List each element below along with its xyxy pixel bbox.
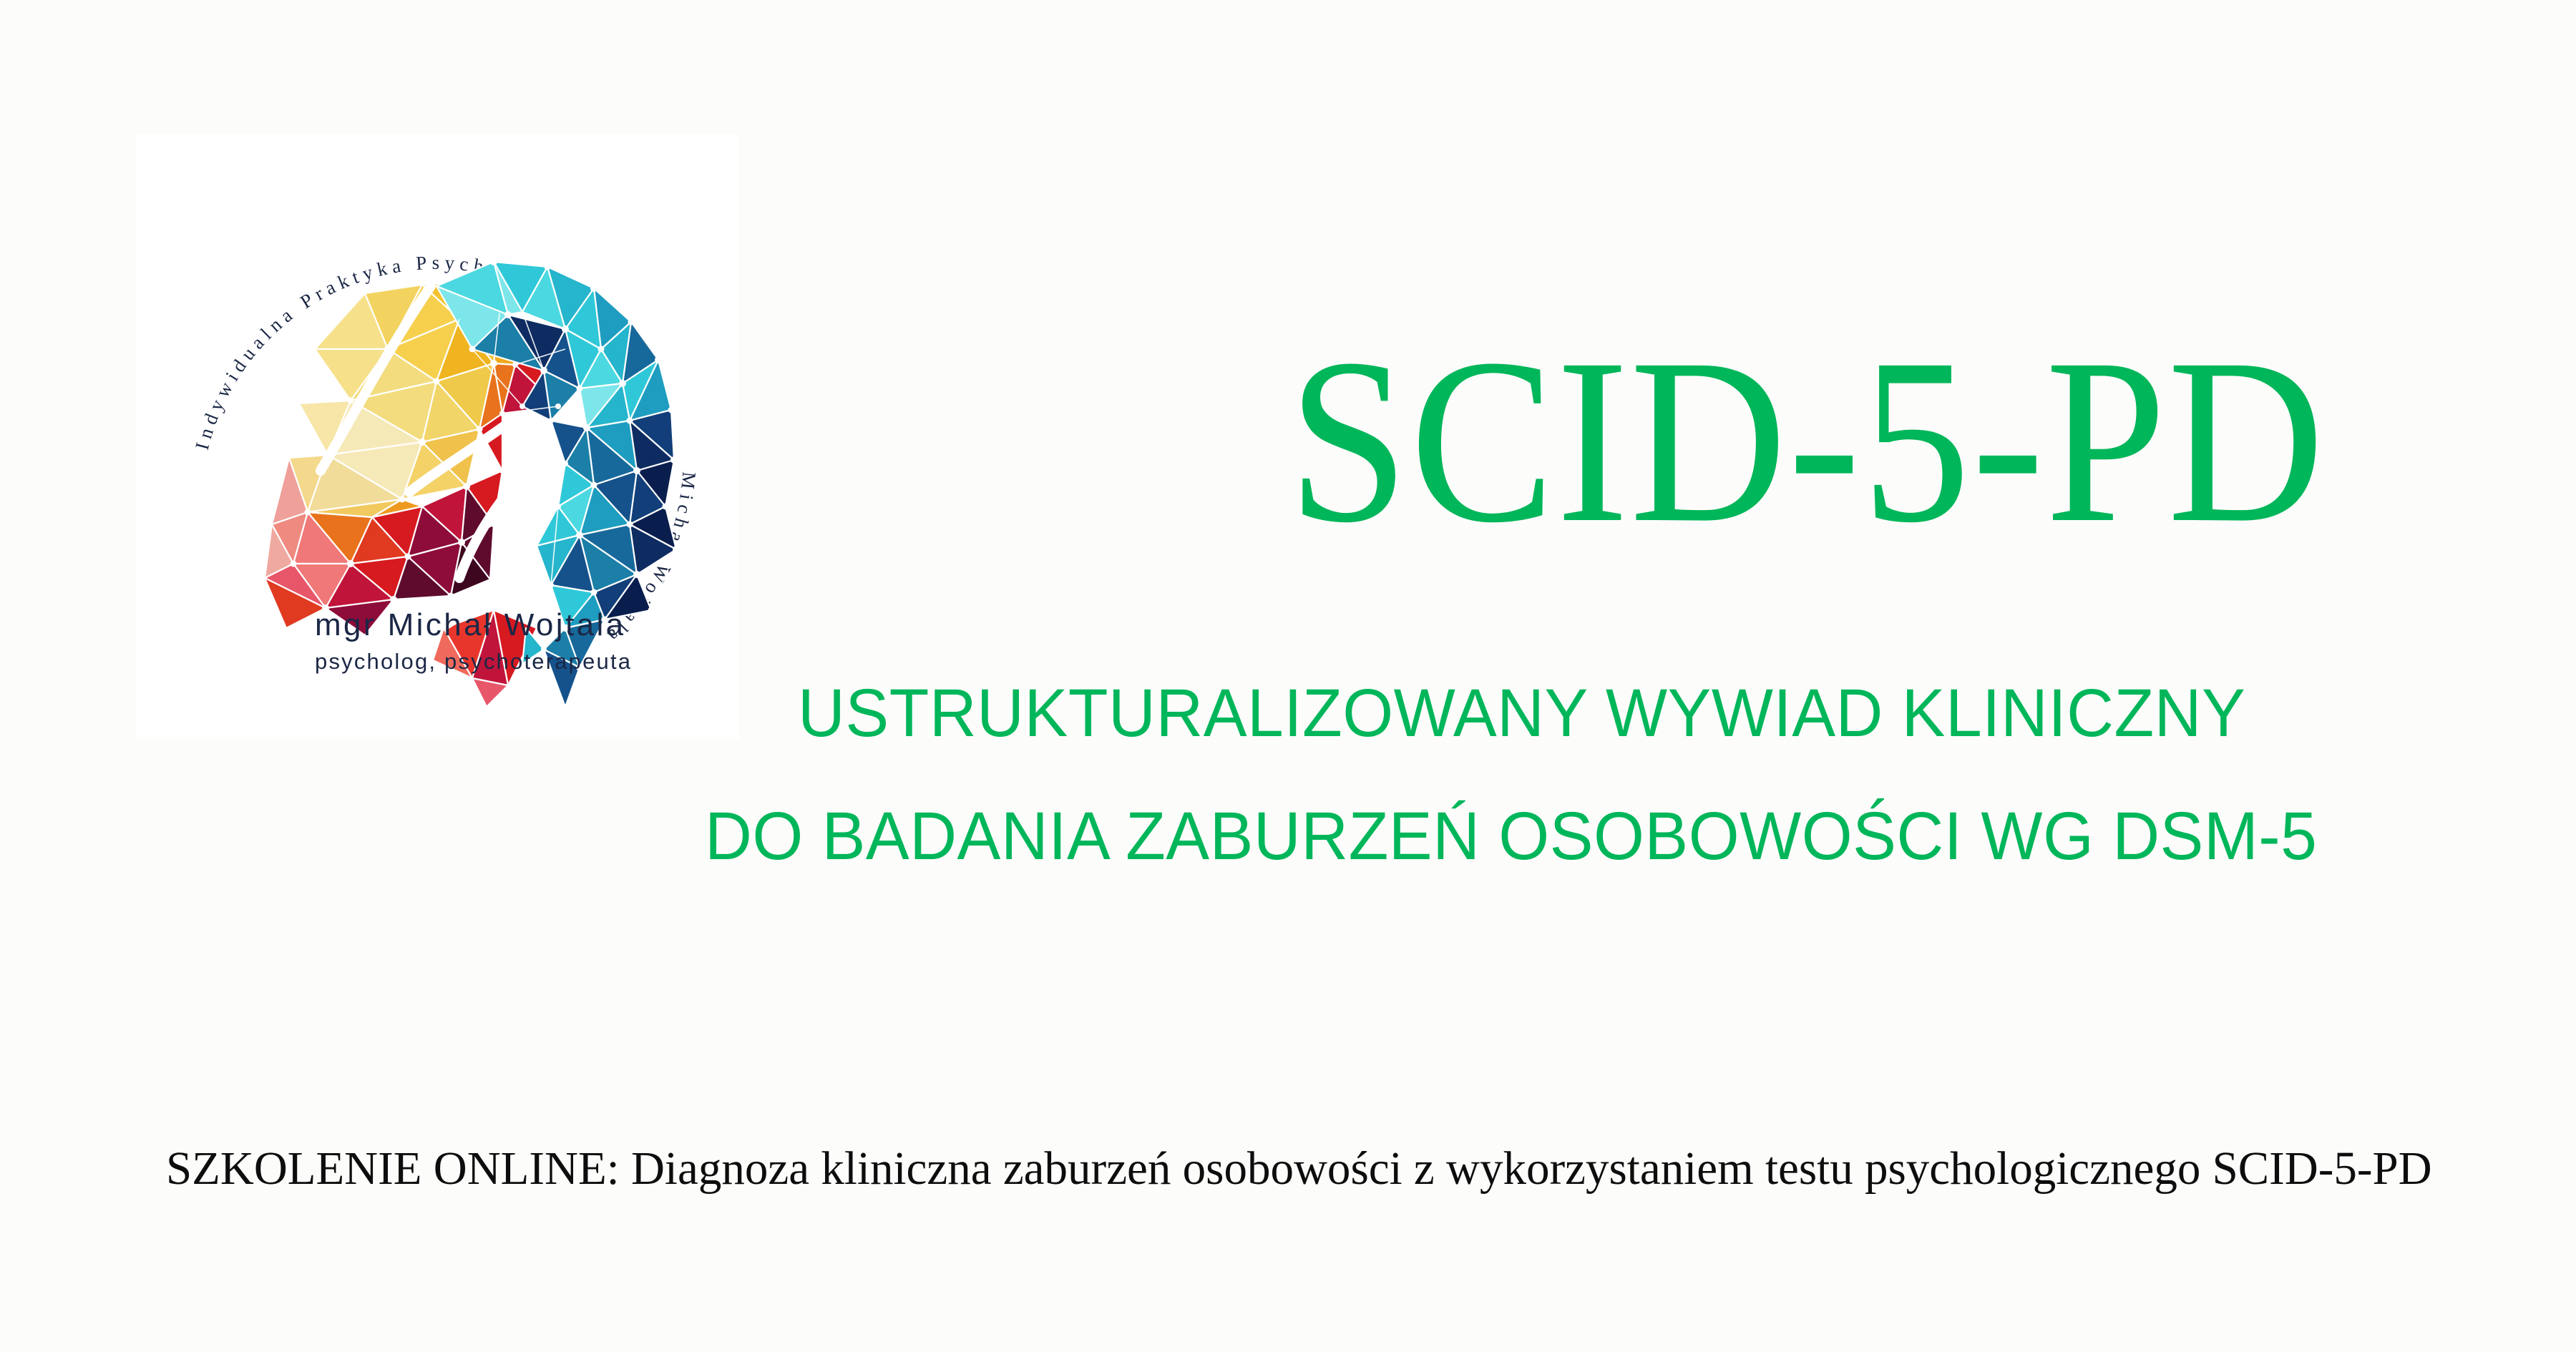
logo-card: Indywidualna Praktyka Psychologiczna Mic… <box>136 134 739 739</box>
subtitle-line-1: USTRUKTURALIZOWANY WYWIAD KLINICZNY <box>798 680 2245 748</box>
logo-role-line: psycholog, psychoterapeuta <box>315 649 632 674</box>
page-title: SCID-5-PD <box>1119 325 2495 557</box>
brain-logo: Indywidualna Praktyka Psychologiczna Mic… <box>136 134 739 739</box>
headline-block: SCID-5-PD <box>1059 325 2555 557</box>
subtitle-line-2: DO BADANIA ZABURZEŃ OSOBOWOŚCI WG DSM-5 <box>705 803 2317 871</box>
slide-canvas: Indywidualna Praktyka Psychologiczna Mic… <box>0 0 2576 1352</box>
footer-caption: SZKOLENIE ONLINE: Diagnoza kliniczna zab… <box>166 1143 2407 1195</box>
logo-name-line: mgr Michał Wojtala <box>315 607 626 642</box>
